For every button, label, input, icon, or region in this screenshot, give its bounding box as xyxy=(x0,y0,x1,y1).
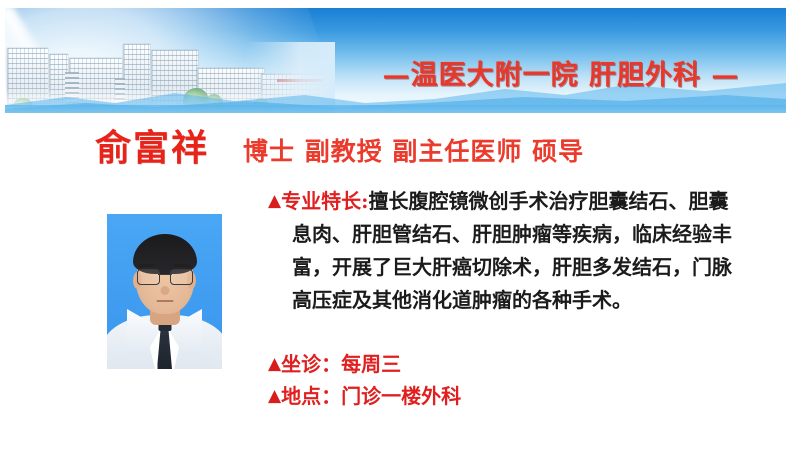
glasses-lens-left xyxy=(137,269,160,285)
banner-title: —温医大附一院 肝胆外科 — xyxy=(341,53,781,92)
doctor-portrait-photo xyxy=(107,214,222,369)
portrait-nose xyxy=(160,286,169,295)
doctor-profile-slide: —温医大附一院 肝胆外科 — 俞富祥 博士 副教授 副主任医师 硕导 ▲专业特长 xyxy=(0,0,800,450)
specialty-block: ▲专业特长:擅长腹腔镜微创手术治疗胆囊结石、胆囊 息肉、肝胆管结石、肝胆肿瘤等疾… xyxy=(268,185,778,317)
triangle-bullet-icon-clinic-day: ▲ xyxy=(268,354,281,374)
specialty-label: 专业特长: xyxy=(281,189,368,213)
specialty-line-1: ▲专业特长:擅长腹腔镜微创手术治疗胆囊结石、胆囊 xyxy=(268,185,778,218)
doctor-titles: 博士 副教授 副主任医师 硕导 xyxy=(243,130,584,174)
clinic-day-label: 坐诊： xyxy=(281,352,341,376)
triangle-bullet-icon-location: ▲ xyxy=(268,386,281,406)
specialty-text-1: 擅长腹腔镜微创手术治疗胆囊结石、胆囊 xyxy=(368,189,728,213)
specialty-line-4: 高压症及其他消化道肿瘤的各种手术。 xyxy=(268,284,778,317)
clinic-day-value: 每周三 xyxy=(341,352,401,376)
triangle-bullet-icon: ▲ xyxy=(268,191,281,211)
portrait-glasses-icon xyxy=(137,269,193,284)
meta-block: ▲坐诊：每周三 ▲地点：门诊一楼外科 xyxy=(268,348,688,412)
clinic-location-value: 门诊一楼外科 xyxy=(341,384,461,408)
doctor-name: 俞富祥 xyxy=(95,126,209,170)
banner-bottom-band xyxy=(5,105,786,113)
clinic-location-label: 地点： xyxy=(281,384,341,408)
clinic-day-row: ▲坐诊：每周三 xyxy=(268,348,688,380)
specialty-line-3: 富，开展了巨大肝癌切除术，肝胆多发结石，门脉 xyxy=(268,251,778,284)
glasses-lens-right xyxy=(170,269,193,285)
specialty-line-2: 息肉、肝胆管结石、肝胆肿瘤等疾病，临床经验丰 xyxy=(268,218,778,251)
clinic-location-row: ▲地点：门诊一楼外科 xyxy=(268,380,688,412)
header-banner: —温医大附一院 肝胆外科 — xyxy=(5,8,786,113)
doctor-name-row: 俞富祥 博士 副教授 副主任医师 硕导 xyxy=(95,126,584,172)
